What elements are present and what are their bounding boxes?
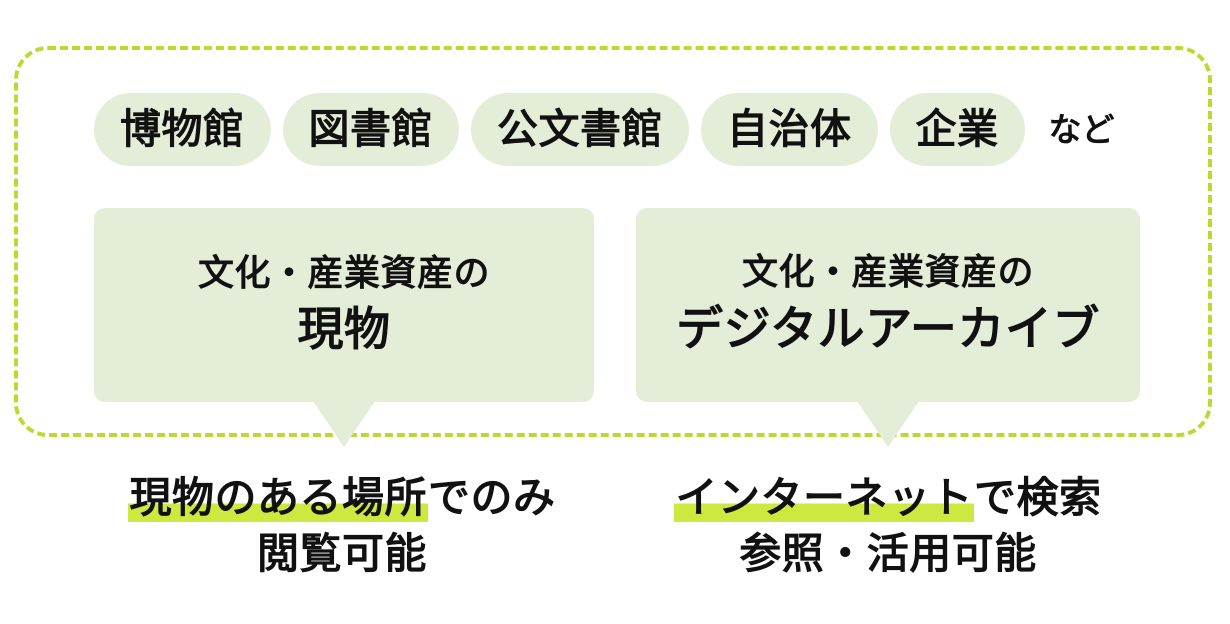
outcome-digital-line1: インターネットで検索	[628, 470, 1148, 526]
asset-box-digital-line1: 文化・産業資産の	[742, 252, 1034, 293]
asset-box-digital: 文化・産業資産の デジタルアーカイブ	[636, 208, 1140, 402]
outcome-digital: インターネットで検索 参照・活用可能	[628, 470, 1148, 582]
outcome-digital-line2: 参照・活用可能	[628, 526, 1148, 582]
provider-pill-museum: 博物館	[94, 93, 271, 166]
outcome-physical-rest: でのみ	[428, 473, 556, 522]
provider-pill-label: 博物館	[120, 109, 245, 150]
provider-pill-label: 図書館	[309, 109, 434, 150]
provider-pill-label: 企業	[916, 109, 999, 150]
provider-pill-company: 企業	[890, 93, 1025, 166]
outcome-digital-highlight: インターネット	[674, 473, 974, 522]
asset-box-digital-line2: デジタルアーカイブ	[676, 302, 1100, 358]
provider-pill-library: 図書館	[283, 93, 460, 166]
arrow-down-icon-digital	[857, 401, 919, 447]
outcome-digital-rest: で検索	[974, 473, 1102, 522]
outcome-physical: 現物のある場所でのみ 閲覧可能	[82, 470, 602, 582]
provider-pill-row: 博物館 図書館 公文書館 自治体 企業 など	[94, 93, 1115, 166]
provider-pill-label: 公文書館	[497, 109, 663, 150]
provider-etc-label: など	[1049, 113, 1115, 146]
asset-box-physical-line2: 現物	[298, 302, 391, 357]
outcome-physical-line1: 現物のある場所でのみ	[82, 470, 602, 526]
provider-pill-municipality: 自治体	[701, 93, 878, 166]
outcome-physical-highlight: 現物のある場所	[128, 473, 428, 522]
provider-pill-label: 自治体	[727, 109, 852, 150]
asset-box-physical: 文化・産業資産の 現物	[94, 208, 594, 402]
asset-box-physical-line1: 文化・産業資産の	[198, 253, 490, 294]
arrow-down-icon-physical	[313, 401, 375, 447]
outcome-physical-line2: 閲覧可能	[82, 526, 602, 582]
provider-pill-archives: 公文書館	[471, 93, 689, 166]
